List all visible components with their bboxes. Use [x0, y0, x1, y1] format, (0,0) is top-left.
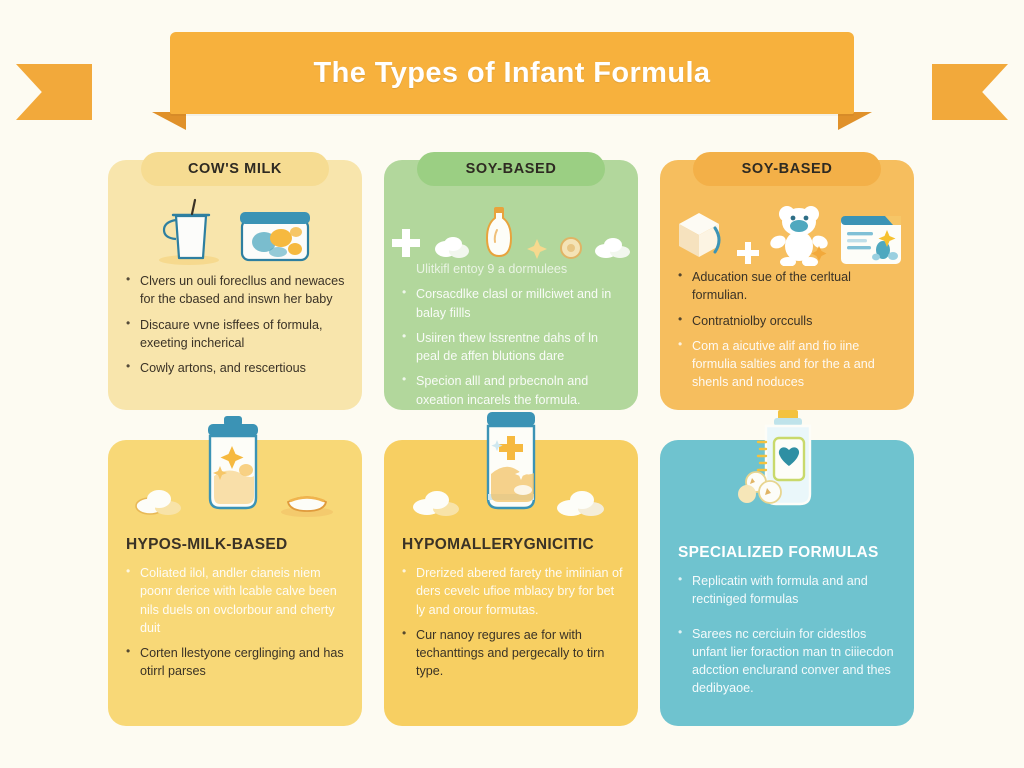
list-item: Cur nanoy regures ae for with techanttin… [402, 626, 624, 681]
card-specialized-formulas[interactable]: SPECIALIZED FORMULAS Replicatin with for… [660, 440, 914, 726]
ribbon-tail-left-icon [16, 64, 92, 120]
card-text: Aducation sue of the cerltual formulian.… [678, 268, 900, 399]
card-text: Clvers un ouli forecllus and newaces for… [126, 272, 348, 384]
bullet-list: Ulitkifl entoy 9 a dormulees Corsacdlke … [402, 260, 624, 409]
cloud-icon [433, 234, 473, 260]
formula-jar-icon [192, 414, 274, 518]
card-text: SPECIALIZED FORMULAS Replicatin with for… [678, 544, 900, 705]
page-title: The Types of Infant Formula [314, 57, 711, 90]
card-title: SPECIALIZED FORMULAS [678, 544, 900, 562]
list-item-intro: Ulitkifl entoy 9 a dormulees [402, 260, 624, 278]
card-icons [384, 198, 638, 260]
cards-grid: COW'S MILK [108, 160, 920, 736]
bullet-list: Clvers un ouli forecllus and newaces for… [126, 272, 348, 377]
list-item: Coliated ilol, andler cianeis niem poonr… [126, 564, 348, 637]
plus-icon [735, 240, 761, 266]
card-pill-label: COW'S MILK [141, 152, 329, 186]
soy-cube-icon [671, 206, 727, 266]
cloud-icon [555, 486, 611, 518]
bullet-list: Coliated ilol, andler cianeis niem poonr… [126, 564, 348, 681]
card-icons [384, 414, 638, 518]
plus-icon [389, 226, 423, 260]
list-item: Drerized abered farety the imiinian of d… [402, 564, 624, 619]
list-item: Usiiren thew lssrentne dahs of ln peal d… [402, 329, 624, 366]
medicine-bottle-icon [722, 408, 852, 520]
bowl-icon [278, 488, 336, 518]
ribbon-fold-left-icon [152, 112, 186, 130]
list-item: Specion alll and prbecnoln and oxeation … [402, 372, 624, 409]
cloud-icon [593, 236, 633, 260]
card-hypoallergenic[interactable]: HYPOMALLERYGNICITIC Drerized abered fare… [384, 440, 638, 726]
card-icons [108, 194, 362, 268]
cloud-icon [411, 486, 467, 518]
formula-can-icon [471, 410, 551, 518]
list-item: Contratniolby orcculls [678, 312, 900, 330]
card-icons [660, 410, 914, 520]
card-icons [108, 418, 362, 518]
card-title: HYPOS-MILK-BASED [126, 536, 348, 554]
ribbon-fold-right-icon [838, 112, 872, 130]
card-cows-milk[interactable]: COW'S MILK [108, 160, 362, 410]
list-item: Corten llestyone cerglinging and has oti… [126, 644, 348, 681]
bean-icon [559, 236, 583, 260]
list-item: Corsacdlke clasl or millciwet and in bal… [402, 285, 624, 322]
list-item: Replicatin with formula and and rectinig… [678, 572, 900, 609]
ribbon-tail-right-icon [932, 64, 1008, 120]
list-item: Discaure vvne isffees of formula, exeeti… [126, 316, 348, 353]
card-text: HYPOMALLERYGNICITIC Drerized abered fare… [402, 536, 624, 688]
card-pill-label: SOY-BASED [417, 152, 605, 186]
card-hypos-milk-based[interactable]: HYPOS-MILK-BASED Coliated ilol, andler c… [108, 440, 362, 726]
cloud-icon [134, 486, 188, 518]
bullet-list: Aducation sue of the cerltual formulian.… [678, 268, 900, 392]
list-item: Aducation sue of the cerltual formulian. [678, 268, 900, 305]
list-item: Cowly artons, and rescertious [126, 359, 348, 377]
teddy-bear-icon [769, 202, 831, 266]
card-title: HYPOMALLERYGNICITIC [402, 536, 624, 554]
list-item: Com a aicutive alif and fio iine formuli… [678, 337, 900, 392]
card-text: Ulitkifl entoy 9 a dormulees Corsacdlke … [402, 260, 624, 416]
sparkle-icon [525, 238, 549, 260]
bullet-list: Replicatin with formula and and rectinig… [678, 572, 900, 698]
bullet-list: Drerized abered farety the imiinian of d… [402, 564, 624, 681]
card-text: HYPOS-MILK-BASED Coliated ilol, andler c… [126, 536, 348, 688]
card-icons [660, 194, 914, 266]
list-item: Sarees nc cerciuin for cidestlos unfant … [678, 625, 900, 698]
card-pill-label: SOY-BASED [693, 152, 881, 186]
milk-mug-icon [156, 196, 222, 268]
infographic-canvas: The Types of Infant Formula COW'S MILK [0, 0, 1024, 768]
banner: The Types of Infant Formula [0, 26, 1024, 118]
banner-ribbon: The Types of Infant Formula [170, 32, 854, 114]
card-soy-based-orange[interactable]: SOY-BASED [660, 160, 914, 410]
bottle-icon [483, 206, 515, 260]
formula-tub-icon [236, 206, 314, 268]
label-card-icon [839, 210, 903, 266]
list-item: Clvers un ouli forecllus and newaces for… [126, 272, 348, 309]
card-soy-based-green[interactable]: SOY-BASED [384, 160, 638, 410]
